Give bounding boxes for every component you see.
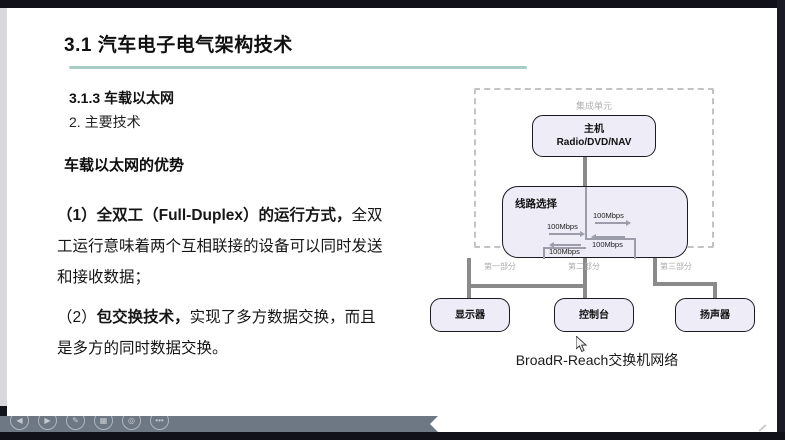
node-speaker-label: 扬声器 (700, 309, 730, 322)
inner-path-left-vertical (543, 247, 545, 259)
arrow-head-top-right (626, 220, 631, 226)
previous-slide-icon[interactable]: ◀ (10, 411, 29, 430)
window-top-border (0, 0, 785, 8)
arrow-shaft-bottom-left (551, 244, 581, 246)
node-host-line1: 主机 (584, 123, 604, 136)
bandwidth-label-4: 100Mbps (549, 247, 580, 256)
bandwidth-label-3: 100Mbps (592, 240, 623, 249)
part-label-3: 第三部分 (660, 261, 692, 272)
arrow-head-mid-left (580, 231, 585, 237)
node-display-label: 显示器 (455, 309, 485, 322)
node-host[interactable]: 主机 Radio/DVD/NAV (532, 115, 656, 157)
pen-tool-glyph: ✎ (72, 417, 79, 425)
part-label-2: 第二部分 (568, 261, 600, 272)
wire-part1-horizontal (467, 284, 585, 288)
zoom-icon[interactable]: ◎ (122, 411, 141, 430)
all-slides-icon[interactable]: ▦ (94, 411, 113, 430)
part-label-1: 第一部分 (484, 261, 516, 272)
bandwidth-label-1: 100Mbps (593, 211, 624, 220)
slideshow-controls: ◀ ▶ ✎ ▦ ◎ ••• (10, 411, 169, 430)
node-host-line2: Radio/DVD/NAV (557, 136, 632, 149)
network-diagram: 集成单元 主机 Radio/DVD/NAV 线路选择 (422, 80, 772, 390)
wire-part3-horizontal (653, 282, 717, 286)
window-bottom-border (0, 432, 785, 440)
paragraph-two-lead: （2） (57, 309, 97, 326)
item-number-label: 2. 主要技术 (69, 112, 141, 132)
node-console[interactable]: 控制台 (554, 298, 634, 332)
paragraph-two: （2）包交换技术，实现了多方数据交换，而且是多方的同时数据交换。 (57, 302, 387, 364)
node-line-selector-label: 线路选择 (515, 196, 557, 211)
arrow-shaft-mid-left (549, 233, 581, 235)
wire-part3-drop (653, 258, 657, 284)
slide-canvas: 3.1 汽车电子电气架构技术 3.1.3 车载以太网 2. 主要技术 车载以太网… (7, 8, 777, 406)
diagram-caption: BroadR-Reach交换机网络 (422, 350, 772, 370)
node-speaker[interactable]: 扬声器 (675, 298, 755, 332)
node-display[interactable]: 显示器 (430, 298, 510, 332)
mouse-cursor (576, 336, 589, 354)
paragraph-one: （1）全双工（Full-Duplex）的运行方式，全双工运行意味着两个互相联接的… (57, 200, 387, 293)
all-slides-glyph: ▦ (100, 417, 108, 425)
bandwidth-label-2: 100Mbps (547, 222, 578, 231)
subsection-heading: 3.1.3 车载以太网 (69, 88, 174, 108)
body-heading: 车载以太网的优势 (64, 154, 184, 175)
paragraph-one-bold: （1）全双工（Full-Duplex）的运行方式， (57, 207, 352, 224)
title-underline-rule (69, 66, 527, 69)
previous-slide-glyph: ◀ (16, 417, 22, 425)
next-slide-glyph: ▶ (44, 417, 50, 425)
arrow-shaft-mid-right (593, 236, 625, 238)
paragraph-two-bold: 包交换技术， (97, 309, 190, 326)
node-console-label: 控制台 (579, 309, 609, 322)
wire-part1-drop (467, 258, 471, 286)
arrow-shaft-top-right (595, 222, 627, 224)
pen-tool-icon[interactable]: ✎ (66, 411, 85, 430)
inner-path-center-vertical (585, 187, 587, 239)
window-left-strip (0, 8, 7, 406)
more-options-icon[interactable]: ••• (150, 411, 169, 430)
inner-path-right-vertical (634, 238, 636, 259)
window-right-border (777, 0, 785, 440)
node-line-selector[interactable]: 线路选择 100Mbps 100Mbps 100Mbps (502, 186, 688, 258)
slide-title: 3.1 汽车电子电气架构技术 (64, 30, 293, 57)
zoom-glyph: ◎ (128, 417, 135, 425)
more-options-glyph: ••• (155, 417, 163, 425)
next-slide-icon[interactable]: ▶ (38, 411, 57, 430)
integrated-unit-label: 集成单元 (474, 99, 714, 112)
arrow-head-mid-right (591, 234, 596, 240)
presentation-screen: 3.1 汽车电子电气架构技术 3.1.3 车载以太网 2. 主要技术 车载以太网… (0, 0, 785, 440)
